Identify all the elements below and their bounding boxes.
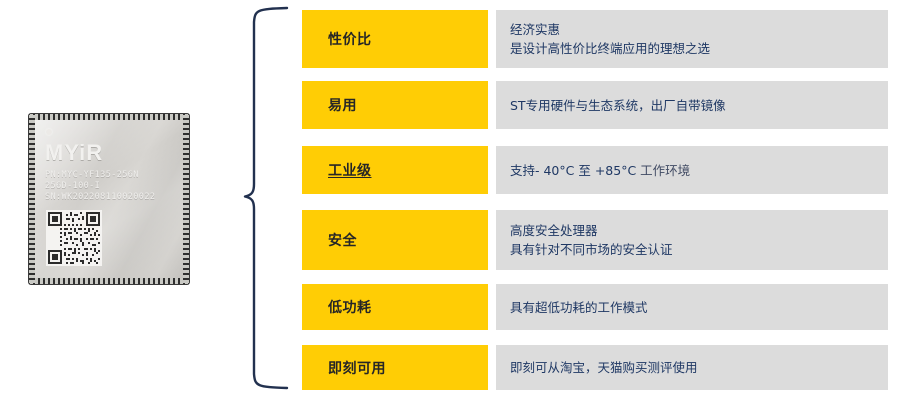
desc-tail: 工作环境: [640, 163, 690, 178]
feature-tag-label-5: 低功耗: [302, 297, 372, 317]
feature-description-4: 高度安全处理器 具有针对不同市场的安全认证: [496, 210, 888, 270]
feature-desc-line: 具有针对不同市场的安全认证: [496, 240, 888, 259]
feature-tag-label-4: 安全: [302, 230, 357, 250]
feature-desc-line: 支持- 40°C 至 +85°C 工作环境: [496, 161, 888, 180]
desc-head: 支持- 40°C 至 +85°C: [510, 163, 640, 178]
feature-tag-5[interactable]: 低功耗: [302, 284, 488, 330]
feature-description-2: ST专用硬件与生态系统，出厂自带镜像: [496, 81, 888, 129]
feature-desc-line: 即刻可从淘宝，天猫购买测评使用: [496, 358, 888, 377]
feature-desc-line: 高度安全处理器: [496, 221, 888, 240]
feature-tag-label-2: 易用: [302, 95, 357, 115]
feature-desc-line: 经济实惠: [496, 20, 888, 39]
feature-row-list: 性价比 经济实惠 是设计高性价比终端应用的理想之选 易用 ST专用硬件与生态系统…: [0, 0, 899, 400]
feature-description-6: 即刻可从淘宝，天猫购买测评使用: [496, 345, 888, 390]
feature-desc-line: 具有超低功耗的工作模式: [496, 298, 888, 317]
feature-description-3: 支持- 40°C 至 +85°C 工作环境: [496, 146, 888, 194]
feature-tag-label-6: 即刻可用: [302, 358, 386, 378]
feature-desc-line: 是设计高性价比终端应用的理想之选: [496, 39, 888, 58]
feature-tag-6[interactable]: 即刻可用: [302, 345, 488, 390]
feature-tag-1[interactable]: 性价比: [302, 10, 488, 68]
feature-tag-label-3: 工业级: [302, 160, 372, 180]
feature-tag-2[interactable]: 易用: [302, 81, 488, 129]
feature-tag-label-1: 性价比: [302, 29, 372, 49]
feature-description-5: 具有超低功耗的工作模式: [496, 284, 888, 330]
feature-desc-line: ST专用硬件与生态系统，出厂自带镜像: [496, 96, 888, 115]
feature-description-1: 经济实惠 是设计高性价比终端应用的理想之选: [496, 10, 888, 68]
feature-tag-3[interactable]: 工业级: [302, 146, 488, 194]
feature-tag-4[interactable]: 安全: [302, 210, 488, 270]
slide-canvas: MYiR PN:MYC-YF135-256N 256D-100-I SN:WK2…: [0, 0, 899, 400]
